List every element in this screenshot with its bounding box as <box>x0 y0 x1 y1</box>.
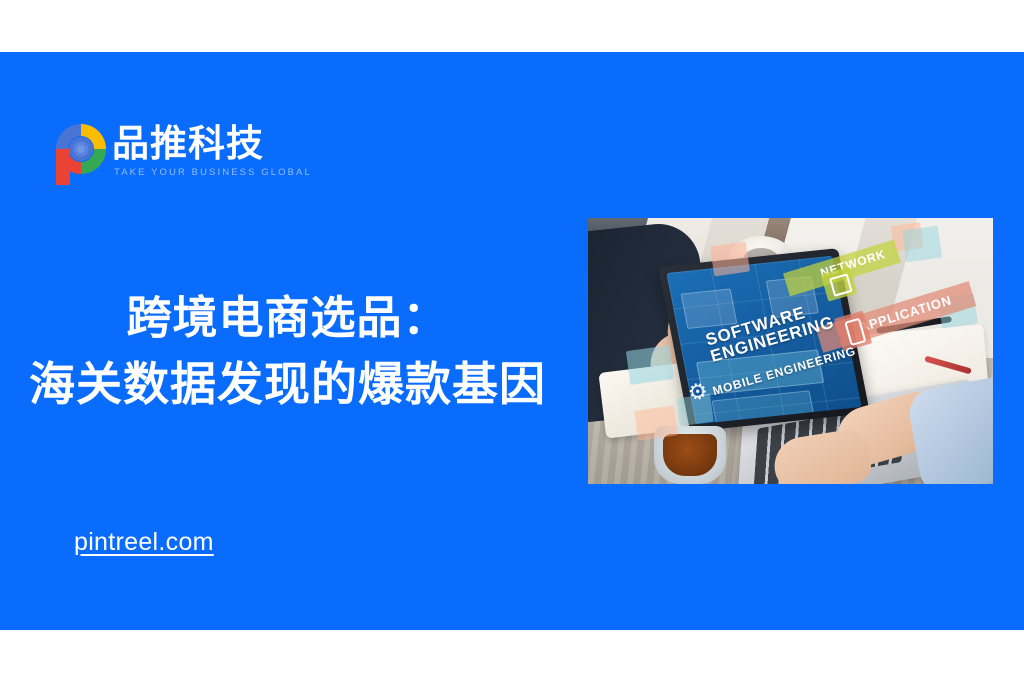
photo-background: NETWORK APPLICATION SOFTWARE ENGINEERING… <box>588 218 993 484</box>
logo-text-block: 品推科技 TAKE YOUR BUSINESS GLOBAL <box>112 122 280 178</box>
brand-logo[interactable]: 品推科技 TAKE YOUR BUSINESS GLOBAL <box>50 118 280 190</box>
overlay-chip <box>634 405 678 440</box>
page-title: 跨境电商选品： 海关数据发现的爆款基因 <box>0 285 575 417</box>
site-url-link[interactable]: pintreel.com <box>74 528 214 557</box>
overlay-chip <box>902 226 942 263</box>
hero-photo: NETWORK APPLICATION SOFTWARE ENGINEERING… <box>588 218 993 484</box>
logo-tagline: TAKE YOUR BUSINESS GLOBAL <box>114 167 280 178</box>
headline-line-1: 跨境电商选品： <box>0 285 575 351</box>
headline-line-2: 海关数据发现的爆款基因 <box>0 351 575 417</box>
pintreel-logo-mark-icon <box>50 118 112 186</box>
overlay-chip <box>710 242 750 277</box>
slide-canvas: 品推科技 TAKE YOUR BUSINESS GLOBAL 跨境电商选品： 海… <box>0 0 1024 683</box>
person-sleeve-right <box>906 377 993 484</box>
logo-brand-name: 品推科技 <box>112 122 280 166</box>
overlay-chip <box>626 345 674 385</box>
